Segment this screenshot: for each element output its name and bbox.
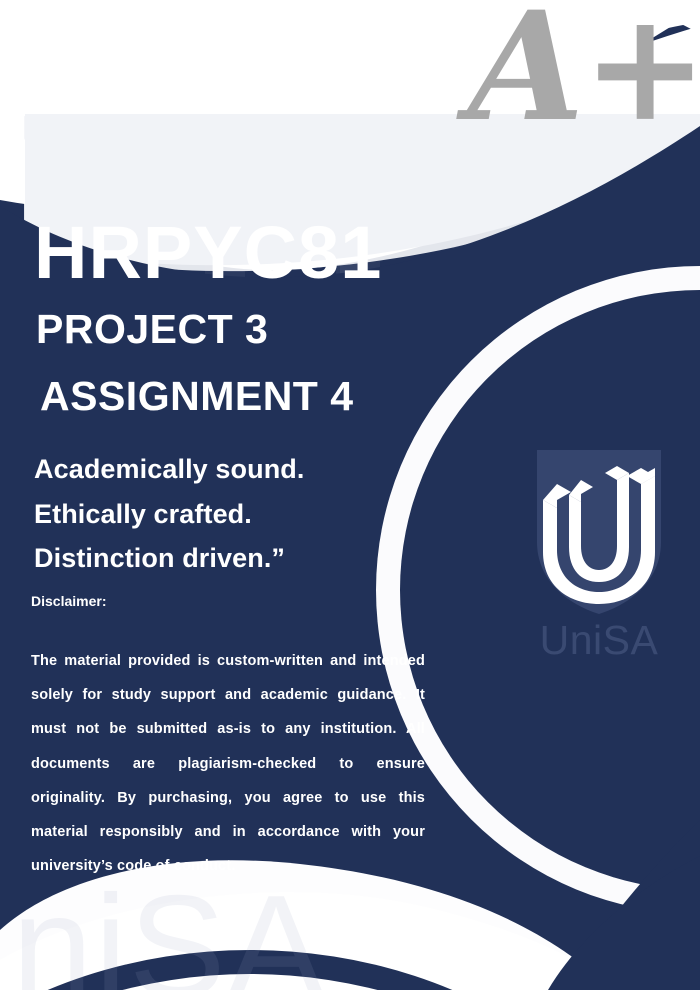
disclaimer-body: The material provided is custom-written … [31, 644, 425, 884]
tagline-line-2: Ethically crafted. [34, 492, 305, 537]
poster-canvas: niSA A+ UniSA HRPYC81 PROJECT 3 [0, 0, 700, 990]
tagline-block: Academically sound. Ethically crafted. D… [34, 447, 305, 581]
page-title-course-code: HRPYC81 [34, 216, 382, 290]
disclaimer-label: Disclaimer: [31, 593, 106, 609]
subtitle-project: PROJECT 3 [36, 309, 268, 350]
tagline-line-3: Distinction driven.” [34, 536, 305, 581]
tagline-line-1: Academically sound. [34, 447, 305, 492]
subtitle-assignment: ASSIGNMENT 4 [40, 376, 354, 417]
poster-text-content: HRPYC81 PROJECT 3 ASSIGNMENT 4 Academica… [0, 0, 700, 990]
